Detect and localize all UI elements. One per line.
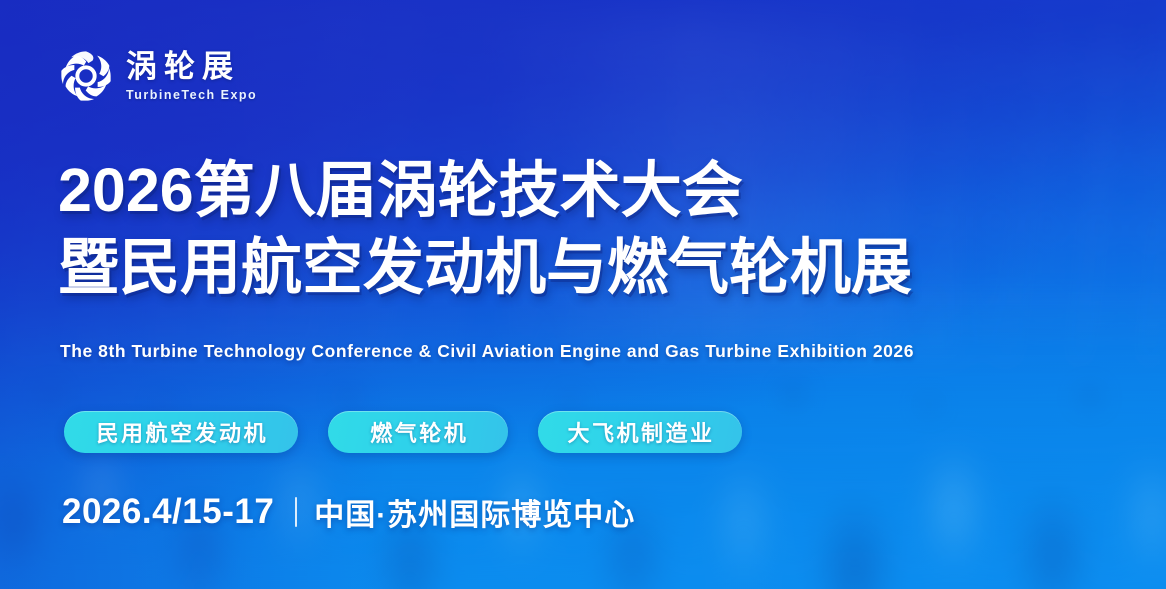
headline-line-1: 2026第八届涡轮技术大会 [58,152,912,229]
banner-content: 涡轮展 TurbineTech Expo 2026第八届涡轮技术大会 暨民用航空… [0,0,1166,589]
date-venue-divider [295,497,297,527]
brand-name-en: TurbineTech Expo [126,87,257,103]
subtitle-english: The 8th Turbine Technology Conference & … [60,341,914,362]
event-date-venue: 2026.4/15-17 中国·苏州国际博览中心 [62,489,635,535]
headline-line-2: 暨民用航空发动机与燃气轮机展 [58,229,912,306]
topic-pill-large-aircraft-manufacturing[interactable]: 大飞机制造业 [538,411,742,453]
topic-pill-label: 大飞机制造业 [565,416,715,448]
expo-banner: 涡轮展 TurbineTech Expo 2026第八届涡轮技术大会 暨民用航空… [0,0,1166,589]
topic-pill-gas-turbine[interactable]: 燃气轮机 [328,411,508,453]
brand-logo: 涡轮展 TurbineTech Expo [58,48,257,104]
page-title: 2026第八届涡轮技术大会 暨民用航空发动机与燃气轮机展 [58,152,912,306]
topic-pill-label: 民用航空发动机 [94,416,268,448]
topic-pill-label: 燃气轮机 [368,416,469,448]
turbine-swirl-icon [58,48,114,104]
topic-pill-group: 民用航空发动机 燃气轮机 大飞机制造业 [64,411,742,453]
brand-name-cn: 涡轮展 [126,51,257,84]
brand-logo-text: 涡轮展 TurbineTech Expo [126,49,257,103]
event-venue: 中国·苏州国际博览中心 [314,490,635,534]
event-date: 2026.4/15-17 [62,492,274,532]
topic-pill-civil-aviation-engine[interactable]: 民用航空发动机 [64,411,298,453]
